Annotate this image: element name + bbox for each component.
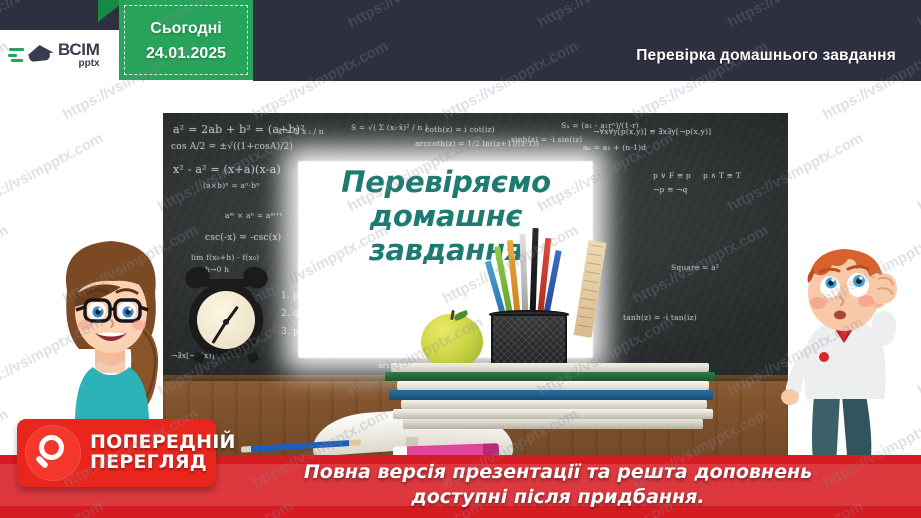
boy-student-illustration <box>778 245 913 470</box>
main-title-line-1: Перевіряємо <box>291 165 601 199</box>
date-badge: Сьогодні 24.01.2025 <box>119 0 253 80</box>
bottom-banner-line-2: доступні після придбання. <box>258 485 858 510</box>
graduation-cap-icon <box>27 42 54 68</box>
main-title-line-2: домашнє <box>291 199 601 233</box>
book-stack <box>385 363 715 435</box>
pencil-cup <box>485 252 573 370</box>
bottom-banner-text: Повна версія презентації та решта доповн… <box>258 460 858 510</box>
watermark-text: https://vsimpptx.com <box>0 222 11 308</box>
header-bar: Перевірка домашнього завдання <box>253 30 921 81</box>
apple <box>421 310 483 368</box>
page-title: Перевірка домашнього завдання <box>636 47 896 65</box>
preview-badge-line-2: ПЕРЕГЛЯД <box>90 453 236 473</box>
presentation-slide: Перевірка домашнього завдання ВСІМ pptx … <box>0 0 921 518</box>
date-badge-value: 24.01.2025 <box>119 45 253 63</box>
cup-mesh-body <box>491 314 567 370</box>
main-photo-scene: a² = 2ab + b² = (a+b)² cos A/2 = ±√((1+c… <box>163 113 788 480</box>
speed-lines-icon <box>8 48 24 62</box>
preview-badge[interactable]: ПОПЕРЕДНІЙ ПЕРЕГЛЯД <box>17 419 216 487</box>
preview-badge-line-1: ПОПЕРЕДНІЙ <box>90 431 236 453</box>
watermark-text: https://vsimpptx.com <box>915 130 921 216</box>
girl-student-illustration <box>45 225 175 440</box>
logo-subtitle: pptx <box>58 59 100 69</box>
magnifier-icon <box>25 425 81 481</box>
logo-name: ВСІМ <box>58 41 100 58</box>
preview-badge-text: ПОПЕРЕДНІЙ ПЕРЕГЛЯД <box>90 433 236 473</box>
watermark-text: https://vsimpptx.com <box>915 314 921 400</box>
watermark-text: https://vsimpptx.com <box>0 130 106 216</box>
alarm-clock <box>186 265 268 361</box>
bottom-banner-line-1: Повна версія презентації та решта доповн… <box>258 460 858 485</box>
brand-logo[interactable]: ВСІМ pptx <box>0 30 119 80</box>
date-badge-label: Сьогодні <box>119 20 253 38</box>
